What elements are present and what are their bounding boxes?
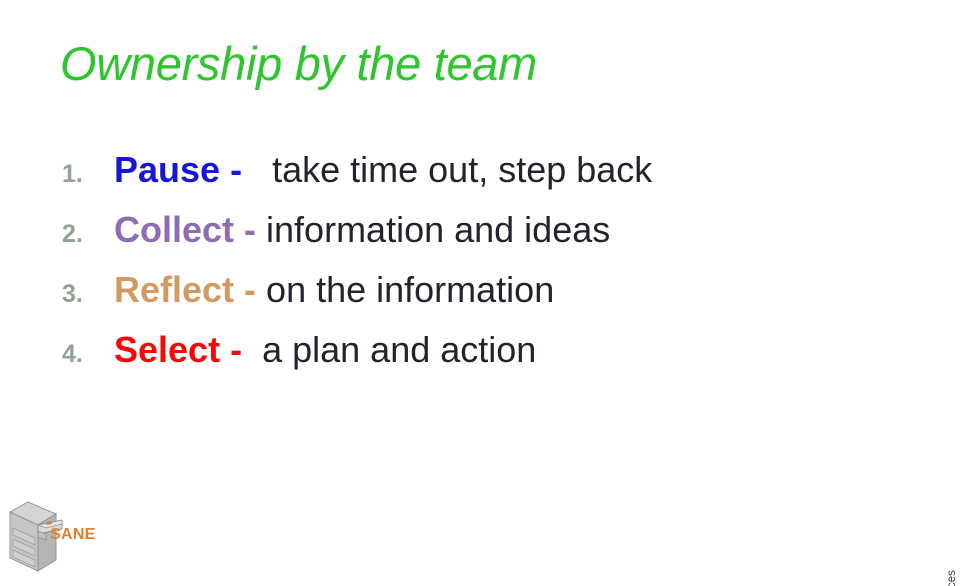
list-item-spacer	[252, 329, 262, 370]
logo: SANE	[6, 498, 116, 578]
logo-wordmark: SANE	[50, 526, 96, 544]
list-item-number: 4.	[62, 342, 114, 367]
list-item-description: information and ideas	[266, 209, 610, 250]
list-item: 3. Reflect - on the information	[62, 272, 902, 332]
list-item-keyword: Pause	[114, 149, 220, 190]
list-item: 4. Select - a plan and action	[62, 332, 902, 392]
copyright-notice: © SANE Management Solutions for Veterina…	[946, 570, 958, 586]
list-item-number: 3.	[62, 282, 114, 307]
list-item-keyword: Select	[114, 329, 220, 370]
numbered-list: 1. Pause - take time out, step back 2. C…	[62, 152, 902, 392]
list-item: 2. Collect - information and ideas	[62, 212, 902, 272]
list-item-dash: -	[220, 329, 252, 370]
list-item-dash: -	[220, 149, 252, 190]
list-item-description: on the information	[266, 269, 554, 310]
list-item-number: 2.	[62, 222, 114, 247]
list-item-spacer	[252, 149, 272, 190]
list-item-body: Reflect - on the information	[114, 272, 902, 308]
page-title: Ownership by the team	[60, 38, 537, 90]
list-item-description: take time out, step back	[272, 149, 652, 190]
slide-canvas: Ownership by the team 1. Pause - take ti…	[0, 0, 960, 586]
list-item-body: Pause - take time out, step back	[114, 152, 902, 188]
list-item-keyword: Reflect	[114, 269, 234, 310]
list-item-description: a plan and action	[262, 329, 536, 370]
list-item-body: Select - a plan and action	[114, 332, 902, 368]
list-item-keyword: Collect	[114, 209, 234, 250]
list-item-dash: -	[234, 209, 266, 250]
list-item-dash: -	[234, 269, 266, 310]
list-item: 1. Pause - take time out, step back	[62, 152, 902, 212]
list-item-number: 1.	[62, 162, 114, 187]
list-item-body: Collect - information and ideas	[114, 212, 902, 248]
